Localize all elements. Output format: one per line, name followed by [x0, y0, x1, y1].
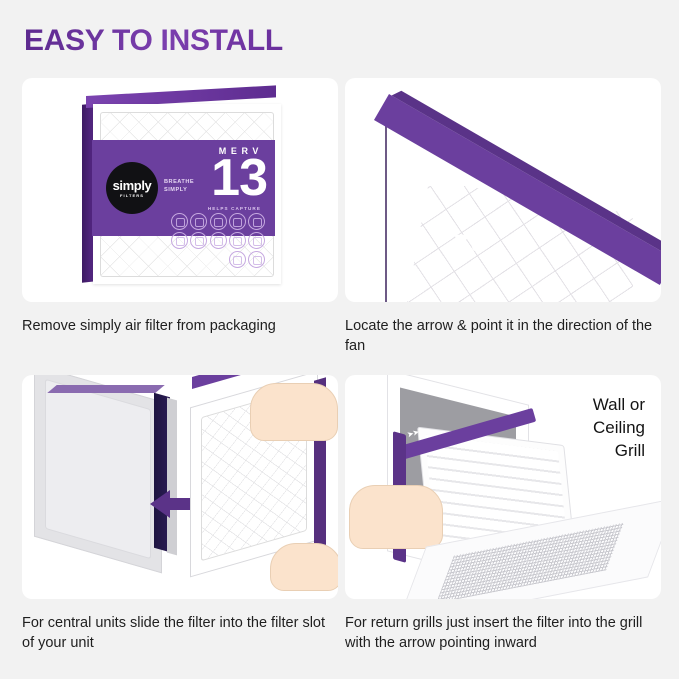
hand-shape: [250, 383, 338, 441]
helps-capture-label: HELPS CAPTURE: [208, 206, 261, 211]
capture-icon-6: [171, 232, 188, 249]
step-1-illustration: simply FILTERS BREATHE SIMPLY MERV 13 HE…: [22, 78, 338, 302]
hand-lower: [270, 543, 338, 589]
tagline-line-2: SIMPLY: [164, 186, 194, 194]
page-title: EASY TO INSTALL: [24, 26, 283, 56]
filter-vertical-edge: [385, 116, 387, 302]
label-line-3: Grill: [593, 439, 645, 462]
simply-filters-logo: simply FILTERS: [106, 162, 158, 214]
logo-wordmark: simply: [113, 179, 152, 192]
package-purple-band: simply FILTERS BREATHE SIMPLY MERV 13 HE…: [92, 140, 275, 236]
tagline-line-1: BREATHE: [164, 178, 194, 186]
step-2-illustration: [345, 78, 661, 302]
wall-or-ceiling-grill-label: Wall or Ceiling Grill: [593, 393, 645, 462]
helps-capture-icons: [157, 213, 265, 268]
logo-subtext: FILTERS: [120, 193, 144, 198]
filter-arrow-marks-icon: ➤➤: [223, 378, 236, 390]
capture-icon-12: [248, 251, 265, 268]
infographic-page: EASY TO INSTALL simply FILTERS: [0, 0, 679, 679]
step-1-caption: Remove simply air filter from packaging: [22, 316, 334, 336]
step-3-caption: For central units slide the filter into …: [22, 613, 334, 653]
hand-shape: [270, 543, 338, 591]
capture-icon-1: [171, 213, 188, 230]
capture-icon-8: [210, 232, 227, 249]
filter-package: simply FILTERS BREATHE SIMPLY MERV 13 HE…: [82, 96, 282, 286]
unit-purple-top-edge: [47, 385, 165, 393]
hvac-unit: [34, 383, 184, 563]
step-3: ➤➤ For central units slide the filter in…: [22, 375, 338, 653]
unit-outer-side: [167, 398, 177, 556]
capture-icon-10: [248, 232, 265, 249]
step-4-caption: For return grills just insert the filter…: [345, 613, 657, 653]
step-4-illustration: ➤➤ Wall or Ceiling Grill: [345, 375, 661, 599]
capture-icon-2: [190, 213, 207, 230]
steps-grid: simply FILTERS BREATHE SIMPLY MERV 13 HE…: [0, 78, 679, 678]
package-front: simply FILTERS BREATHE SIMPLY MERV 13 HE…: [93, 104, 281, 284]
capture-icon-3: [210, 213, 227, 230]
step-3-illustration: ➤➤: [22, 375, 338, 599]
capture-icon-4: [229, 213, 246, 230]
step-1: simply FILTERS BREATHE SIMPLY MERV 13 HE…: [22, 78, 338, 336]
unit-slot: [45, 379, 151, 559]
package-tagline: BREATHE SIMPLY: [164, 178, 194, 194]
capture-icon-9: [229, 232, 246, 249]
ceiling-grill-base: [411, 525, 661, 599]
step-2-caption: Locate the arrow & point it in the direc…: [345, 316, 657, 356]
capture-icon-5: [248, 213, 265, 230]
unit-face: [34, 375, 162, 573]
hand-upper: [250, 383, 336, 439]
label-line-1: Wall or: [593, 393, 645, 416]
capture-icon-7: [190, 232, 207, 249]
merv-rating-value: 13: [211, 152, 267, 204]
label-line-2: Ceiling: [593, 416, 645, 439]
step-2: Locate the arrow & point it in the direc…: [345, 78, 661, 356]
capture-icon-11: [229, 251, 246, 268]
step-4: ➤➤ Wall or Ceiling Grill For return gril…: [345, 375, 661, 653]
